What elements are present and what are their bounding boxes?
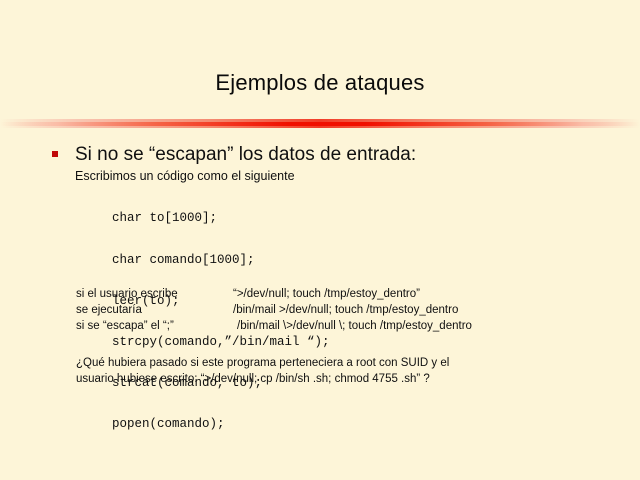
example-row: se ejecutaría/bin/mail >/dev/null; touch… (76, 302, 472, 318)
title-divider (0, 119, 640, 128)
example-label: se ejecutaría (76, 302, 233, 318)
example-value: /bin/mail \>/dev/null \; touch /tmp/esto… (233, 318, 472, 334)
example-row: si el usuario escribe“>/dev/null; touch … (76, 286, 472, 302)
slide-canvas: Ejemplos de ataques Si no se “escapan” l… (0, 0, 640, 480)
code-line: char to[1000]; (112, 212, 330, 226)
example-value: /bin/mail >/dev/null; touch /tmp/estoy_d… (233, 302, 458, 318)
divider-core (0, 122, 640, 126)
square-bullet-icon (52, 151, 58, 157)
code-line: char comando[1000]; (112, 254, 330, 268)
example-value: “>/dev/null; touch /tmp/estoy_dentro” (233, 286, 420, 302)
code-line: popen(comando); (112, 418, 330, 432)
example-label: si el usuario escribe (76, 286, 233, 302)
bullet-item: Si no se “escapan” los datos de entrada: (52, 143, 612, 167)
page-title: Ejemplos de ataques (0, 69, 640, 97)
bullet-item-label: Si no se “escapan” los datos de entrada: (75, 143, 416, 167)
code-line: strcpy(comando,”/bin/mail “); (112, 336, 330, 350)
example-label: si se “escapa” el “;” (76, 318, 233, 334)
closing-line: usuario hubiese escrito: “>/dev/null; cp… (76, 371, 576, 387)
example-row: si se “escapa” el “;”/bin/mail \>/dev/nu… (76, 318, 472, 334)
intro-text: Escribimos un código como el siguiente (75, 168, 295, 184)
closing-paragraph: ¿Qué hubiera pasado si este programa per… (76, 355, 576, 387)
closing-line: ¿Qué hubiera pasado si este programa per… (76, 355, 576, 371)
example-list: si el usuario escribe“>/dev/null; touch … (76, 286, 472, 334)
